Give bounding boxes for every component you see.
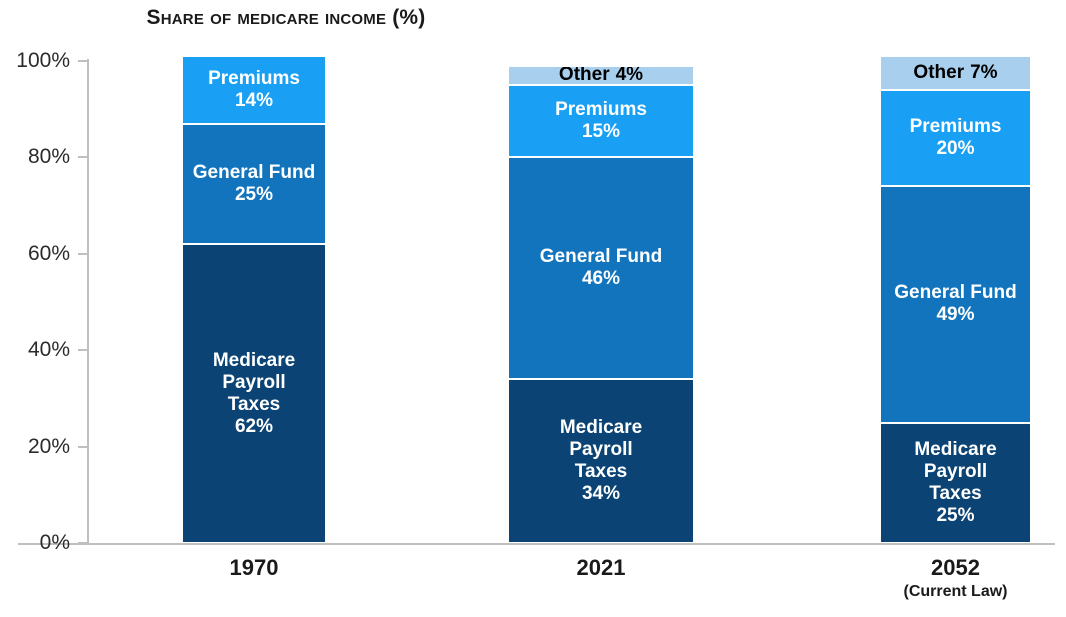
bar-segment-2052-general-fund[interactable]: General Fund49%: [880, 186, 1031, 422]
bar-segment-label: Medicare: [560, 417, 642, 439]
bar-segment-label: 14%: [235, 90, 273, 112]
x-axis-label-main: 1970: [230, 555, 279, 580]
bar-segment-1970-payroll-taxes[interactable]: MedicarePayrollTaxes62%: [182, 244, 326, 543]
y-axis-tick-label: 20%: [0, 436, 70, 457]
bar-segment-2052-other[interactable]: Other7%: [880, 56, 1031, 90]
bar-segment-2052-premiums[interactable]: Premiums20%: [880, 90, 1031, 186]
y-axis-tick-label: 80%: [0, 146, 70, 167]
bar-segment-label: Medicare: [914, 439, 996, 461]
bar-segment-2052-payroll-taxes[interactable]: MedicarePayrollTaxes25%: [880, 423, 1031, 544]
bar-segment-label: 4%: [616, 66, 643, 85]
bar-segment-label: 20%: [936, 138, 974, 160]
x-axis-label-main: 2052: [931, 555, 980, 580]
bar-segment-2021-premiums[interactable]: Premiums15%: [508, 85, 694, 157]
bar-column-2021[interactable]: MedicarePayrollTaxes34%General Fund46%Pr…: [508, 61, 694, 543]
y-axis-tick-label: 100%: [0, 50, 70, 71]
bar-segment-label: Payroll: [924, 461, 987, 483]
bar-segment-label: Taxes: [575, 461, 627, 483]
bar-segment-label: 34%: [582, 483, 620, 505]
bar-column-2052[interactable]: MedicarePayrollTaxes25%General Fund49%Pr…: [880, 61, 1031, 543]
bar-segment-2021-general-fund[interactable]: General Fund46%: [508, 157, 694, 379]
y-axis-tick-label: 0%: [0, 532, 70, 553]
bar-segment-label: 25%: [936, 505, 974, 527]
bar-segment-label: Payroll: [222, 372, 285, 394]
bar-segment-label: 62%: [235, 416, 273, 438]
x-axis-line: [18, 543, 1055, 545]
bar-segment-label: 15%: [582, 121, 620, 143]
x-axis-label-2052: 2052(Current Law): [880, 556, 1031, 601]
bar-segment-label: 25%: [235, 184, 273, 206]
bar-column-1970[interactable]: MedicarePayrollTaxes62%General Fund25%Pr…: [182, 61, 326, 543]
page-title: SHARE OF MEDICARE INCOME (%): [86, 6, 486, 30]
bar-segment-2021-payroll-taxes[interactable]: MedicarePayrollTaxes34%: [508, 379, 694, 543]
bar-segment-label: 49%: [936, 304, 974, 326]
y-axis-tick-label: 40%: [0, 339, 70, 360]
bar-segment-label: 46%: [582, 268, 620, 290]
bar-segment-label: General Fund: [894, 282, 1016, 304]
bar-segment-label: Premiums: [910, 116, 1002, 138]
x-axis-label-1970: 1970: [182, 556, 326, 581]
bar-segment-label: General Fund: [193, 162, 315, 184]
plot-area: MedicarePayrollTaxes62%General Fund25%Pr…: [87, 61, 1045, 543]
bar-segment-label: General Fund: [540, 246, 662, 268]
bar-segment-1970-premiums[interactable]: Premiums14%: [182, 56, 326, 123]
x-axis-label-sublabel: (Current Law): [880, 583, 1031, 601]
y-axis-tick-label: 60%: [0, 243, 70, 264]
bar-segment-2021-other[interactable]: Other4%: [508, 66, 694, 85]
x-axis-label-2021: 2021: [508, 556, 694, 581]
bar-segment-label: Medicare: [213, 350, 295, 372]
bar-segment-1970-general-fund[interactable]: General Fund25%: [182, 124, 326, 245]
bar-segment-label: Taxes: [929, 483, 981, 505]
bar-segment-label: Other: [913, 62, 964, 84]
bar-segment-label: Payroll: [569, 439, 632, 461]
chart-container: SHARE OF MEDICARE INCOME (%) 0%20%40%60%…: [0, 0, 1066, 617]
bar-segment-label: Premiums: [555, 99, 647, 121]
bar-segment-label: 7%: [970, 62, 997, 84]
x-axis-label-main: 2021: [577, 555, 626, 580]
bar-segment-label: Taxes: [228, 394, 280, 416]
bar-segment-label: Premiums: [208, 68, 300, 90]
bar-segment-label: Other: [559, 66, 610, 85]
